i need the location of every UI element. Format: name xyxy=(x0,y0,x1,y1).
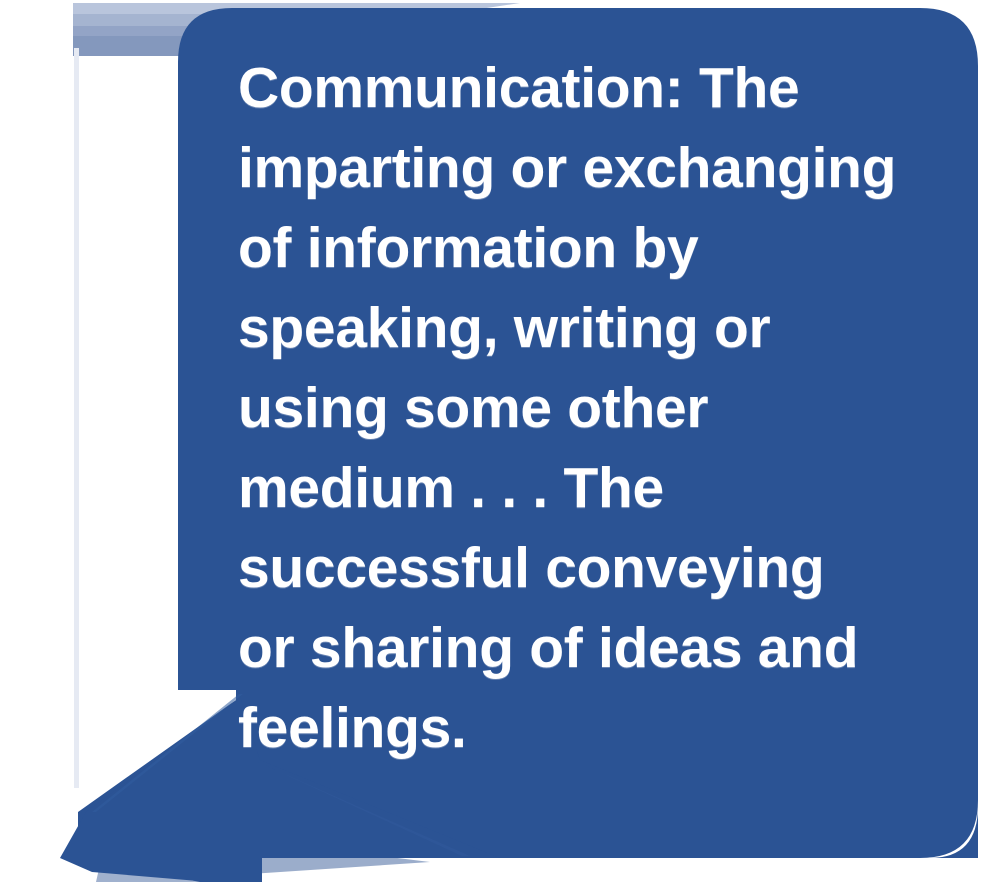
quote-line-4: speaking, writing or xyxy=(238,288,938,368)
quote-line-8: or sharing of ideas and xyxy=(238,608,938,688)
quote-line-3: of information by xyxy=(238,208,938,288)
quote-line-9: feelings. xyxy=(238,688,938,768)
quote-line-7: successful conveying xyxy=(238,528,938,608)
left-edge-highlight xyxy=(74,48,79,788)
quote-line-6: medium . . . The xyxy=(238,448,938,528)
callout-canvas: Communication: The imparting or exchangi… xyxy=(0,0,1000,882)
quote-line-2: imparting or exchanging xyxy=(238,128,938,208)
quote-line-1: Communication: The xyxy=(238,48,938,128)
quote-line-5: using some other xyxy=(238,368,938,448)
quote-text-block: Communication: The imparting or exchangi… xyxy=(238,48,938,768)
